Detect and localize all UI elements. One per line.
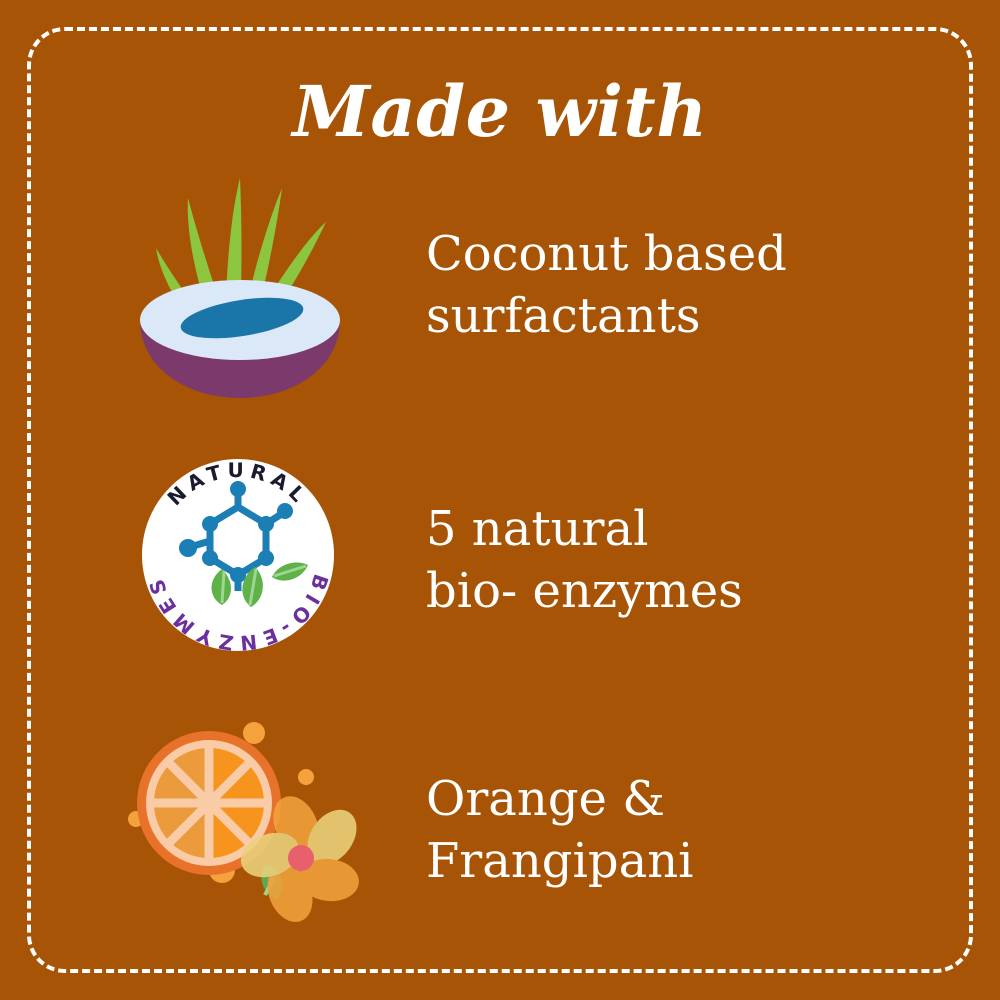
orange-frangipani-icon <box>124 715 374 925</box>
ingredient-label-coconut: Coconut based surfactants <box>390 223 930 347</box>
orange-frangipani-icon-cell <box>130 715 390 945</box>
made-with-ingredients-poster: Made with Coconut base <box>0 0 1000 1000</box>
ingredient-row-coconut: Coconut based surfactants <box>130 170 930 400</box>
ingredient-row-fragrance: Orange & Frangipani <box>130 715 930 945</box>
ingredient-label-fragrance: Orange & Frangipani <box>390 768 930 892</box>
coconut-palm-icon <box>130 170 360 400</box>
ingredient-label-enzymes: 5 natural bio- enzymes <box>390 498 930 622</box>
ingredient-label-coconut-line1: Coconut based <box>426 223 930 285</box>
bio-enzymes-icon-cell: NATURAL · BIO-ENZYMES · <box>130 445 390 675</box>
ingredient-label-fragrance-line1: Orange & <box>426 768 930 830</box>
ingredient-label-coconut-line2: surfactants <box>426 285 930 347</box>
ingredient-row-enzymes: NATURAL · BIO-ENZYMES · <box>130 445 930 675</box>
natural-bio-enzymes-badge-icon: NATURAL · BIO-ENZYMES · <box>138 455 338 655</box>
page-title: Made with <box>0 72 1000 152</box>
ingredient-label-enzymes-line2: bio- enzymes <box>426 560 930 622</box>
ingredient-label-fragrance-line2: Frangipani <box>426 830 930 892</box>
ingredient-label-enzymes-line1: 5 natural <box>426 498 930 560</box>
coconut-icon-cell <box>130 170 390 400</box>
